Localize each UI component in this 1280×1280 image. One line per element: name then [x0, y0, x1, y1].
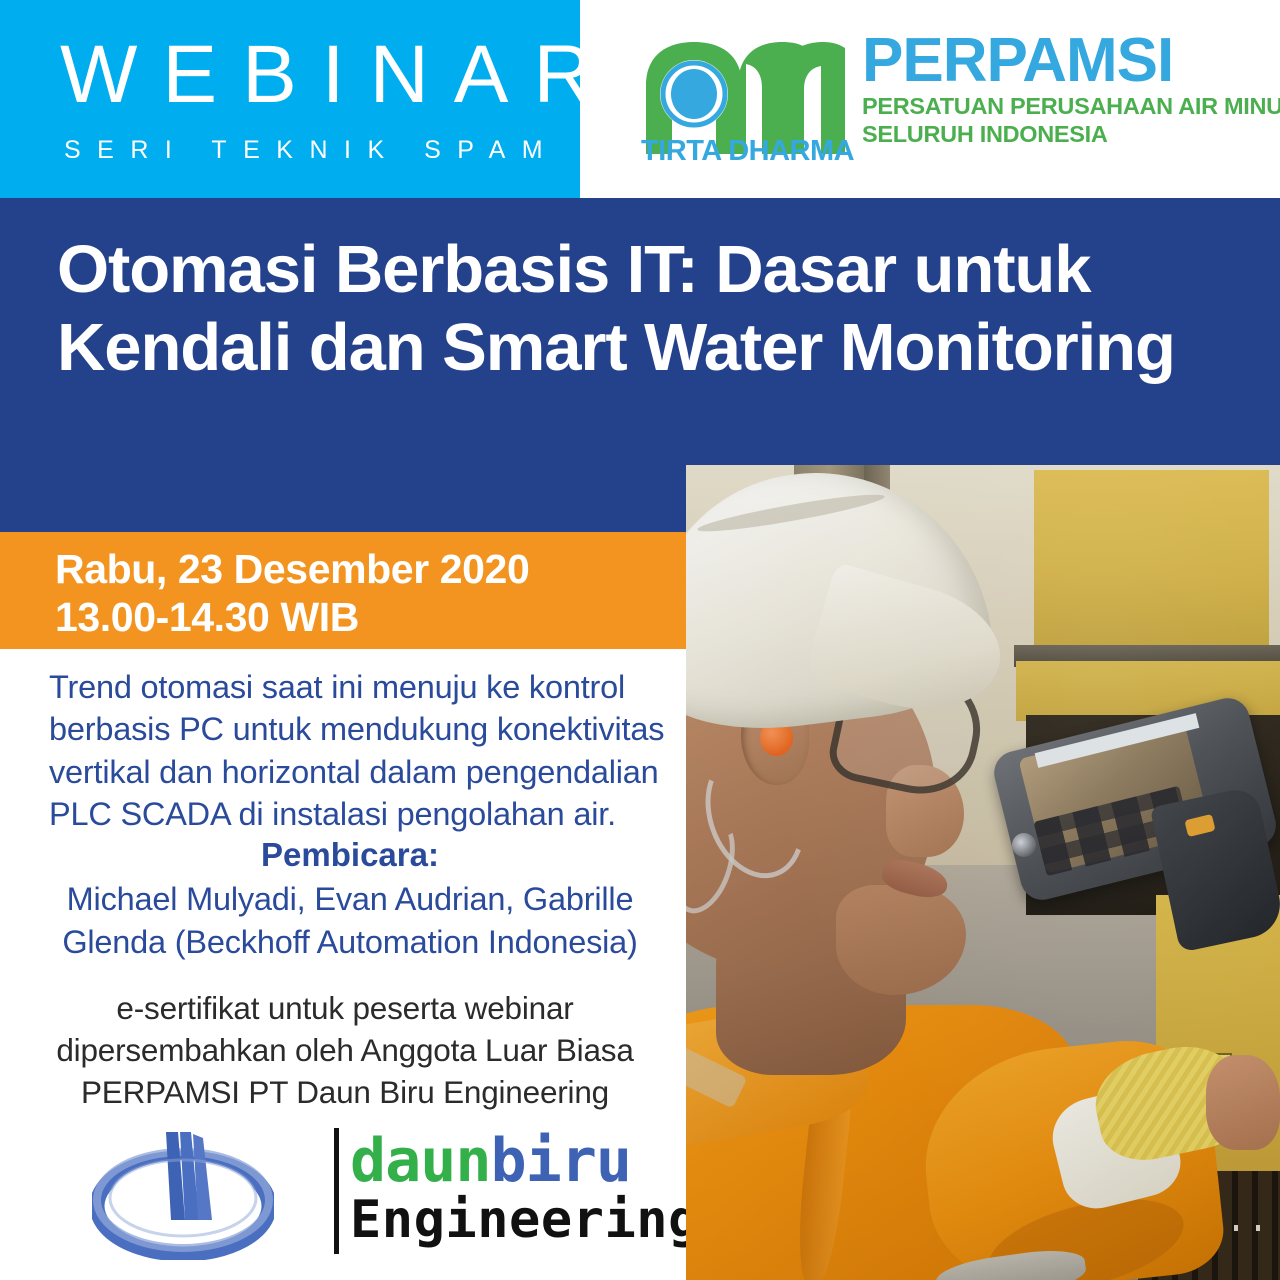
perpamsi-text-block: PERPAMSI PERSATUAN PERUSAHAAN AIR MINUM …	[862, 32, 1242, 148]
photo-yellow-equipment-top	[1034, 470, 1269, 645]
webinar-flyer: WEBINAR SERI TEKNIK SPAM TIRTA DHARMA PE…	[0, 0, 1280, 1280]
event-date: Rabu, 23 Desember 2020	[55, 545, 529, 593]
perpamsi-subtitle-line2: SELURUH INDONESIA	[862, 122, 1242, 147]
daunbiru-word-biru: biru	[491, 1126, 632, 1196]
perpamsi-logo: TIRTA DHARMA PERPAMSI PERSATUAN PERUSAHA…	[640, 36, 1240, 176]
daunbiru-word-daun: daun	[350, 1126, 491, 1196]
webinar-heading: WEBINAR	[60, 34, 618, 116]
speaker-label: Pembicara:	[20, 836, 680, 874]
certificate-note: e-sertifikat untuk peserta webinar diper…	[20, 988, 670, 1114]
webinar-series-subtitle: SERI TEKNIK SPAM	[64, 136, 559, 165]
speaker-names: Michael Mulyadi, Evan Audrian, Gabrille …	[20, 878, 680, 964]
photo-worker-fingers	[1206, 1055, 1280, 1150]
tirta-dharma-label: TIRTA DHARMA	[641, 135, 854, 168]
daunbiru-ellipse-mark-icon	[92, 1128, 274, 1260]
daunbiru-divider	[334, 1128, 339, 1254]
header-band: WEBINAR SERI TEKNIK SPAM TIRTA DHARMA PE…	[0, 0, 1280, 198]
page-title: Otomasi Berbasis IT: Dasar untuk Kendali…	[57, 231, 1237, 388]
event-description: Trend otomasi saat ini menuju ke kontrol…	[49, 666, 669, 835]
daunbiru-engineering-logo: daunbiru Engineering	[92, 1128, 572, 1263]
daunbiru-wordmark: daunbiru	[350, 1126, 631, 1196]
event-datetime: Rabu, 23 Desember 2020 13.00-14.30 WIB	[55, 545, 529, 642]
perpamsi-title: PERPAMSI	[862, 32, 1242, 91]
worker-scanner-photo	[686, 465, 1280, 1280]
daunbiru-word-engineering: Engineering	[350, 1190, 700, 1250]
event-time: 13.00-14.30 WIB	[55, 593, 529, 641]
perpamsi-subtitle-line1: PERSATUAN PERUSAHAAN AIR MINUM	[862, 94, 1242, 119]
